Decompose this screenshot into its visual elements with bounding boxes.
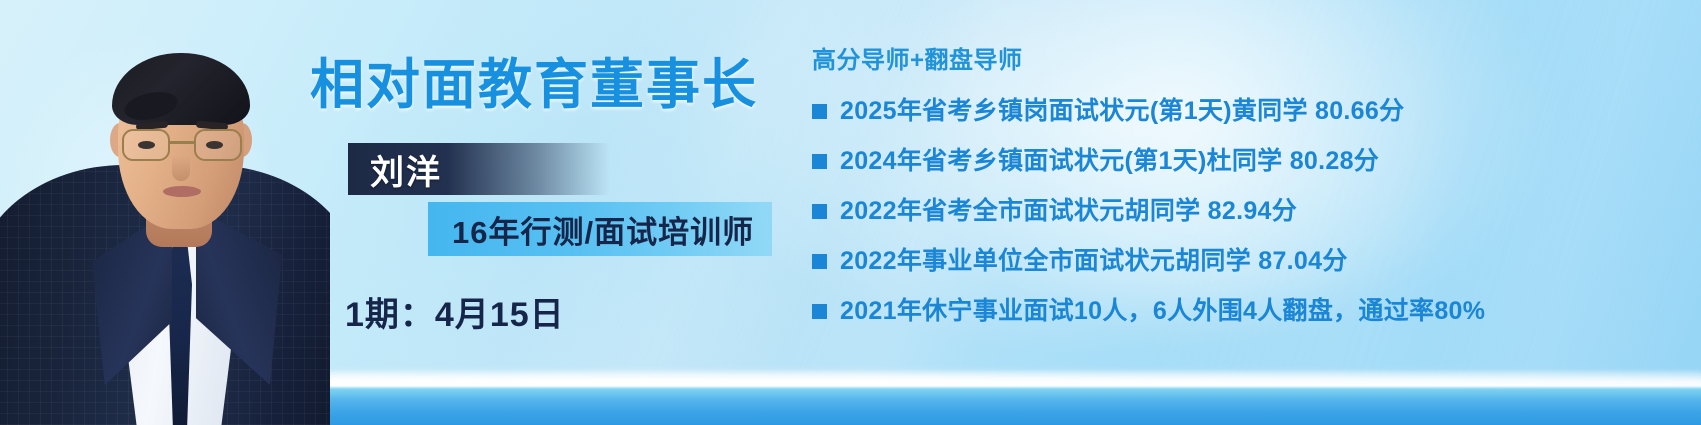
instructor-name: 刘洋 bbox=[370, 145, 442, 194]
list-item: 2022年省考全市面试状元胡同学 82.94分 bbox=[812, 195, 1692, 228]
achievements-panel: 高分导师+翻盘导师 2025年省考乡镇岗面试状元(第1天)黄同学 80.66分 … bbox=[812, 40, 1692, 345]
list-item: 2022年事业单位全市面试状元胡同学 87.04分 bbox=[812, 245, 1692, 278]
achievement-text: 2022年事业单位全市面试状元胡同学 87.04分 bbox=[840, 245, 1348, 278]
achievement-text: 2025年省考乡镇岗面试状元(第1天)黄同学 80.66分 bbox=[840, 95, 1404, 128]
square-bullet-icon bbox=[812, 204, 827, 219]
glasses-lens-left bbox=[122, 129, 170, 161]
tagline: 高分导师+翻盘导师 bbox=[812, 40, 1692, 75]
list-item: 2024年省考乡镇面试状元(第1天)杜同学 80.28分 bbox=[812, 145, 1692, 178]
instructor-role: 16年行测/面试培训师 bbox=[452, 207, 754, 252]
achievement-text: 2021年休宁事业面试10人，6人外围4人翻盘，通过率80% bbox=[840, 295, 1485, 328]
list-item: 2025年省考乡镇岗面试状元(第1天)黄同学 80.66分 bbox=[812, 95, 1692, 128]
instructor-name-badge: 刘洋 bbox=[348, 143, 610, 195]
instructor-portrait bbox=[0, 0, 330, 425]
page-title: 相对面教育董事长 bbox=[310, 40, 758, 119]
instructor-role-band: 16年行测/面试培训师 bbox=[428, 202, 772, 256]
square-bullet-icon bbox=[812, 254, 827, 269]
achievements-list: 2025年省考乡镇岗面试状元(第1天)黄同学 80.66分 2024年省考乡镇面… bbox=[812, 95, 1692, 328]
achievement-text: 2022年省考全市面试状元胡同学 82.94分 bbox=[840, 195, 1297, 228]
square-bullet-icon bbox=[812, 304, 827, 319]
session-date: 1期：4月15日 bbox=[345, 287, 565, 336]
list-item: 2021年休宁事业面试10人，6人外围4人翻盘，通过率80% bbox=[812, 295, 1692, 328]
glasses-bridge bbox=[170, 141, 194, 144]
square-bullet-icon bbox=[812, 104, 827, 119]
square-bullet-icon bbox=[812, 154, 827, 169]
portrait-nose bbox=[172, 155, 190, 181]
promo-banner: 相对面教育董事长 刘洋 16年行测/面试培训师 1期：4月15日 高分导师+翻盘… bbox=[0, 0, 1701, 425]
glasses-lens-right bbox=[194, 129, 242, 161]
portrait-mouth bbox=[163, 186, 201, 197]
achievement-text: 2024年省考乡镇面试状元(第1天)杜同学 80.28分 bbox=[840, 145, 1379, 178]
